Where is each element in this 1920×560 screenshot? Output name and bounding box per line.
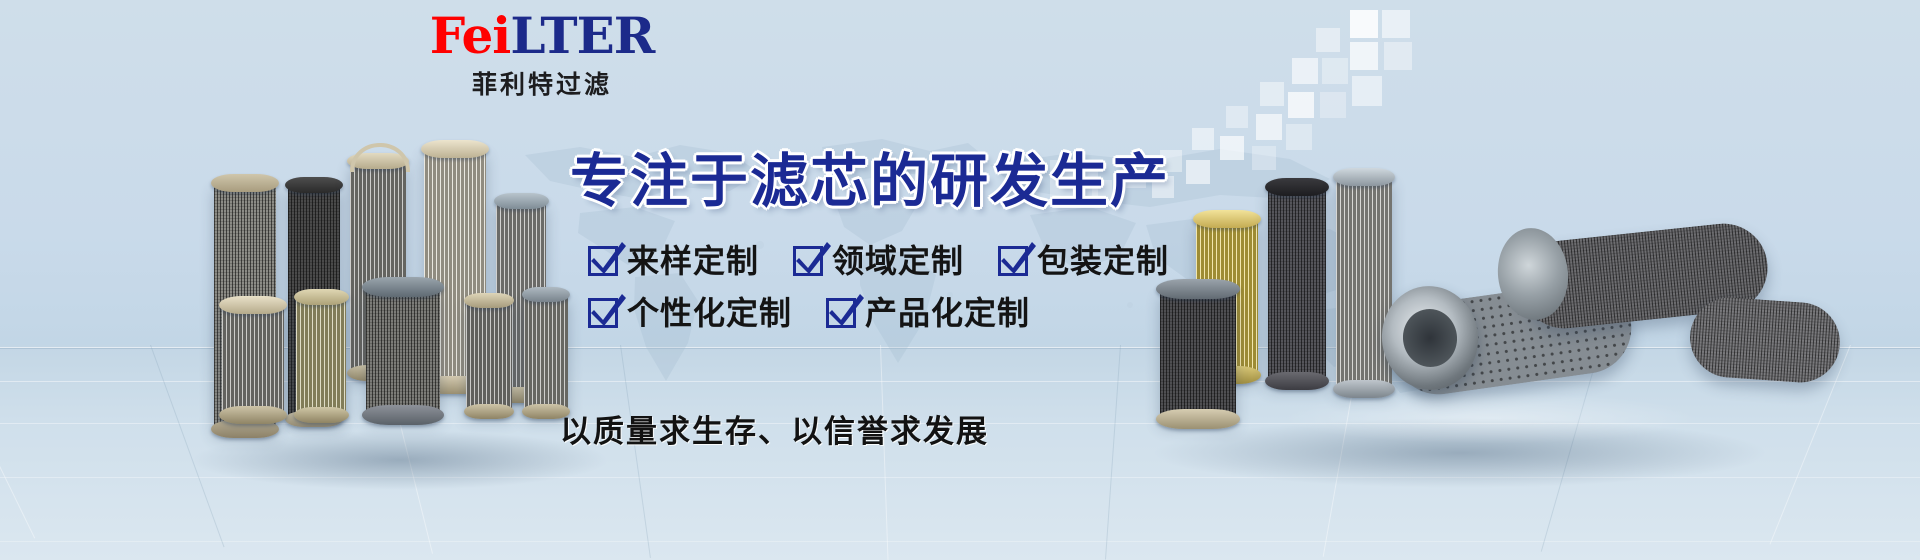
- filter-cartridge: [1516, 219, 1772, 332]
- feature-item: 产品化定制: [826, 295, 1030, 331]
- filter-cartridge: [350, 160, 406, 374]
- feature-row-2: 个性化定制 产品化定制: [588, 295, 1169, 331]
- feature-row-1: 来样定制 领域定制 包装定制: [588, 243, 1169, 279]
- company-logo: FeiLTER 菲利特过滤: [392, 8, 692, 100]
- checkbox-checked-icon: [998, 246, 1028, 276]
- checkbox-checked-icon: [826, 298, 856, 328]
- checkbox-checked-icon: [588, 246, 618, 276]
- feature-item: 个性化定制: [588, 295, 792, 331]
- logo-wordmark-secondary: LTER: [510, 6, 654, 65]
- feature-label: 个性化定制: [627, 295, 792, 331]
- feature-label: 包装定制: [1037, 243, 1169, 279]
- feature-item: 来样定制: [588, 243, 759, 279]
- hero-banner: FeiLTER 菲利特过滤 专注于滤芯的研发生产 来样定制 领域: [0, 0, 1920, 560]
- feature-list: 来样定制 领域定制 包装定制: [588, 243, 1169, 331]
- headline: 专注于滤芯的研发生产: [570, 148, 1170, 214]
- logo-wordmark-primary: Fei: [430, 6, 511, 65]
- feature-item: 领域定制: [793, 243, 964, 279]
- logo-wordmark: FeiLTER: [392, 8, 692, 64]
- feature-item: 包装定制: [998, 243, 1169, 279]
- checkbox-checked-icon: [588, 298, 618, 328]
- feature-label: 产品化定制: [865, 295, 1030, 331]
- logo-chinese-name: 菲利特过滤: [392, 70, 692, 100]
- feature-label: 来样定制: [627, 243, 759, 279]
- checkbox-checked-icon: [793, 246, 823, 276]
- handle-icon: [346, 128, 414, 174]
- feature-label: 领域定制: [832, 243, 964, 279]
- tagline: 以质量求生存、以信誉求发展: [560, 413, 989, 451]
